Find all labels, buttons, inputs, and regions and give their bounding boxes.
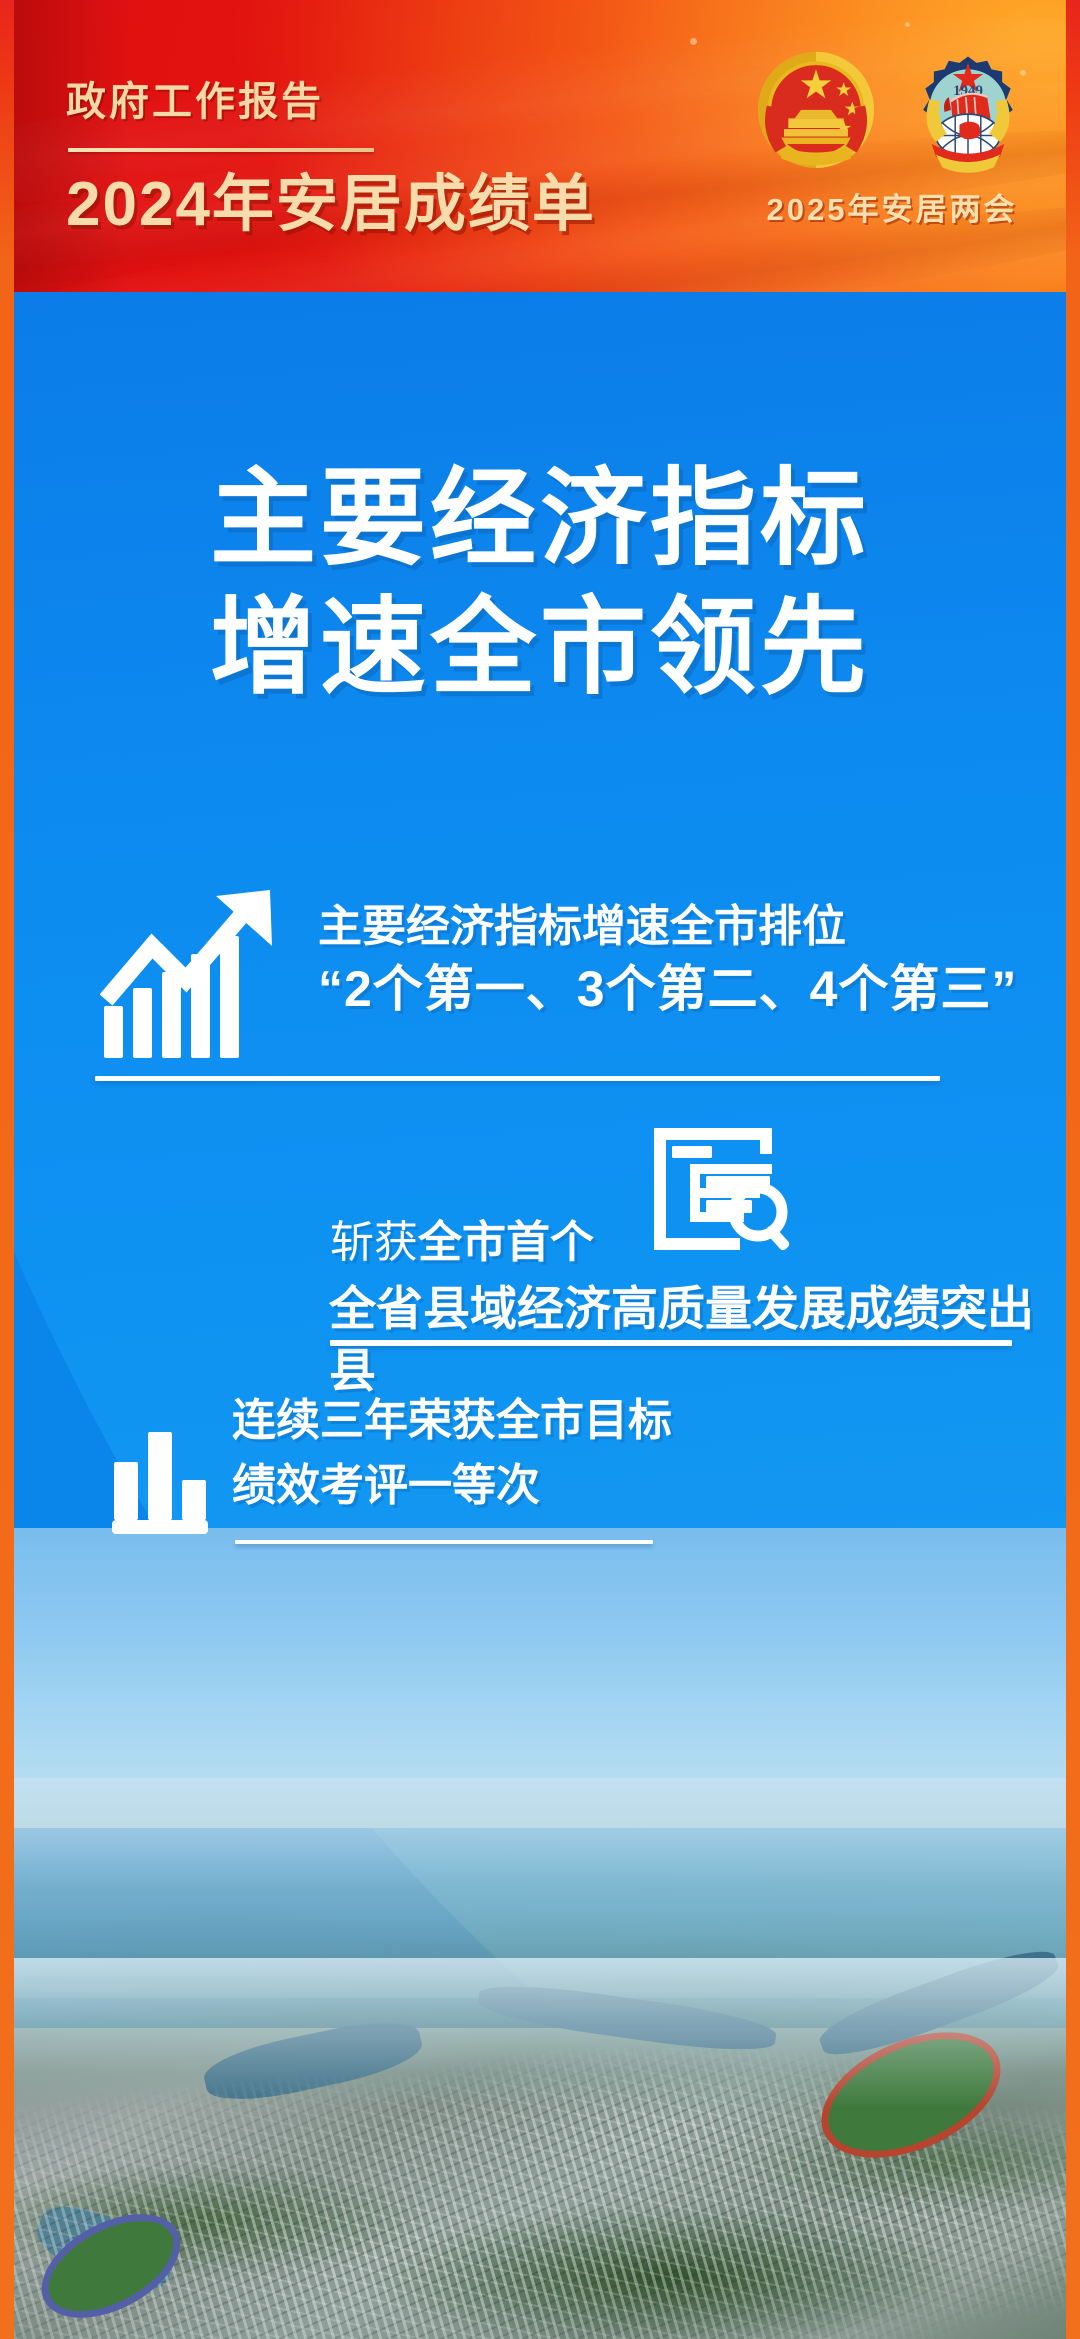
fact-item-3: 连续三年荣获全市目标 绩效考评一等次 [0,1388,1080,1598]
headline-line-1: 主要经济指标 [0,455,1080,584]
fact-3-line-1: 连续三年荣获全市目标 [232,1388,672,1453]
left-orange-rail [0,0,14,2339]
fact-1-text: 主要经济指标增速全市排位 “2个第一、3个第二、4个第三” [318,898,1017,1022]
photo-haze [14,1958,1066,2108]
fact-item-1: 主要经济指标增速全市排位 “2个第一、3个第二、4个第三” [0,880,1080,1110]
fact-1-line-1: 主要经济指标增速全市排位 [318,898,1017,956]
cityscape-photo [14,1528,1066,2339]
fact-1-divider [95,1076,940,1081]
fact-2-line-1-bold: 全市首个 [418,1218,594,1267]
main-headline: 主要经济指标 增速全市领先 [0,455,1080,714]
fact-2-line-1-thin: 斩获 [330,1218,418,1267]
fact-3-text: 连续三年荣获全市目标 绩效考评一等次 [232,1388,672,1518]
fact-1-line-2: “2个第一、3个第二、4个第三” [318,956,1017,1022]
bar-chart-icon [112,1418,212,1538]
fact-list: 主要经济指标增速全市排位 “2个第一、3个第二、4个第三” [0,880,1080,1598]
poster-root: 政府工作报告 2024年安居成绩单 [0,0,1080,2339]
headline-line-2: 增速全市领先 [0,584,1080,713]
fact-3-divider [235,1540,653,1544]
growth-chart-icon [100,888,288,1063]
fact-item-2: 斩获全市首个 全省县域经济高质量发展成绩突出县 [0,1118,1080,1378]
fact-2-line-1: 斩获全市首个 [330,1214,1080,1272]
fact-2-text: 斩获全市首个 全省县域经济高质量发展成绩突出县 [330,1214,1080,1402]
right-orange-rail [1066,0,1080,2339]
fact-2-divider [330,1340,1012,1346]
fact-3-line-2: 绩效考评一等次 [232,1453,672,1518]
